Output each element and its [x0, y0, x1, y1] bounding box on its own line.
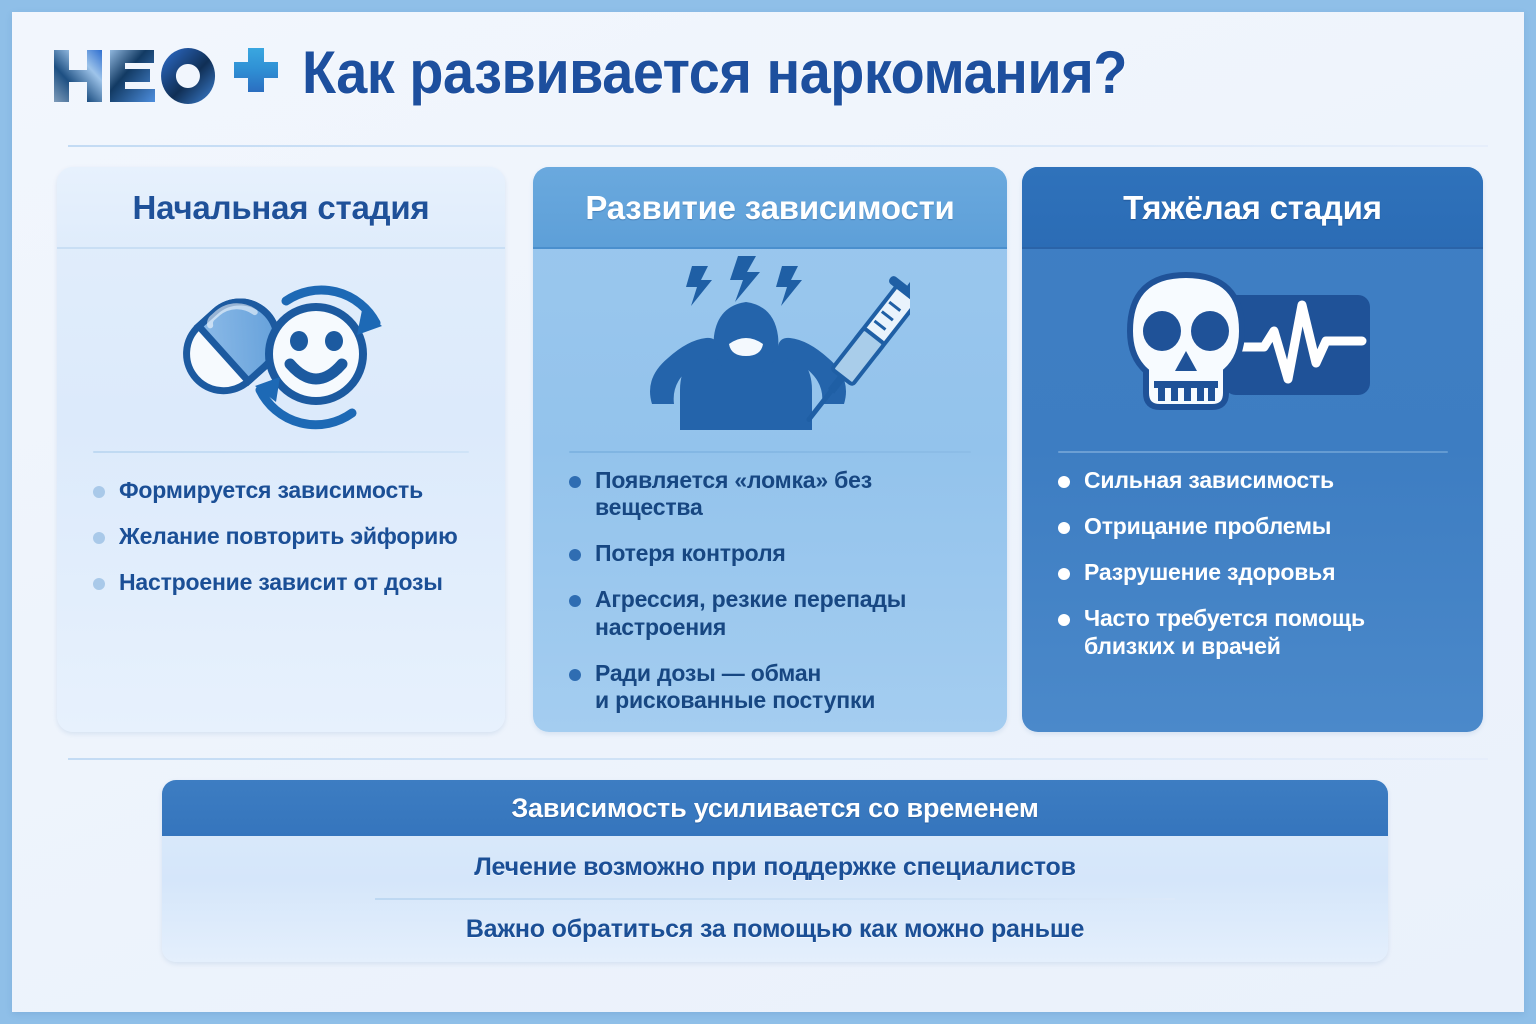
- footer-divider: [68, 758, 1488, 760]
- card-title: Развитие зависимости: [585, 189, 954, 227]
- card-bullet-list-initial: Формируется зависимость Желание повторит…: [57, 477, 505, 615]
- stage-card-development[interactable]: Развитие зависимости: [533, 167, 1007, 732]
- bullet-dot-icon: [569, 549, 581, 561]
- card-title: Начальная стадия: [133, 189, 430, 227]
- bullet-dot-icon: [1058, 568, 1070, 580]
- bullet-dot-icon: [1058, 522, 1070, 534]
- card-header-development: Развитие зависимости: [533, 167, 1007, 249]
- skull-ecg-monitor-icon: [1022, 249, 1483, 449]
- bullet-text-line-1: Часто требуется помощь: [1084, 605, 1365, 631]
- card-bullets-divider: [1058, 451, 1448, 453]
- pill-smiley-cycle-icon: [57, 249, 505, 449]
- card-bullets-divider: [569, 451, 971, 453]
- footer-text: Лечение возможно при поддержке специалис…: [474, 853, 1076, 882]
- stage-card-initial[interactable]: Начальная стадия: [57, 167, 505, 732]
- card-header-initial: Начальная стадия: [57, 167, 505, 249]
- bullet-dot-icon: [569, 595, 581, 607]
- header-divider: [68, 145, 1488, 147]
- bullet-item: Часто требуется помощь близких и врачей: [1058, 605, 1453, 659]
- footer-banner: Зависимость усиливается со временем: [162, 780, 1388, 836]
- card-title: Тяжёлая стадия: [1123, 189, 1382, 227]
- bullet-text-line-1: Ради дозы — обман: [595, 660, 821, 686]
- bullet-item: Агрессия, резкие перепады настроения: [569, 586, 977, 640]
- footer-statement-2: Важно обратиться за помощью как можно ра…: [162, 898, 1388, 960]
- bullet-dot-icon: [1058, 614, 1070, 626]
- stages-card-row: Начальная стадия: [12, 167, 1524, 732]
- bullet-item: Ради дозы — обман и рискованные поступки: [569, 660, 977, 714]
- bullet-text: Появляется «ломка» без вещества: [595, 467, 977, 521]
- bullet-item: Формируется зависимость: [93, 477, 475, 504]
- bullet-dot-icon: [93, 486, 105, 498]
- bullet-text: Формируется зависимость: [119, 477, 423, 504]
- bullet-item: Отрицание проблемы: [1058, 513, 1453, 540]
- footer-text: Важно обратиться за помощью как можно ра…: [466, 915, 1084, 944]
- neo-plus-logo: [48, 40, 288, 112]
- bullet-text-multiline: Часто требуется помощь близких и врачей: [1084, 605, 1365, 659]
- footer-banner-text: Зависимость усиливается со временем: [511, 793, 1038, 824]
- bullet-text: Настроение зависит от дозы: [119, 569, 443, 596]
- bullet-item: Желание повторить эйфорию: [93, 523, 475, 550]
- page-title: Как развивается наркомания?: [302, 38, 1127, 107]
- bullet-text: Отрицание проблемы: [1084, 513, 1331, 540]
- poster-header: Как развивается наркомания?: [12, 12, 1524, 134]
- card-header-severe: Тяжёлая стадия: [1022, 167, 1483, 249]
- card-bullets-divider: [93, 451, 469, 453]
- bullet-item: Сильная зависимость: [1058, 467, 1453, 494]
- headache-person-syringe-icon: [533, 249, 1007, 449]
- stage-card-severe[interactable]: Тяжёлая стадия: [1022, 167, 1483, 732]
- bullet-text: Агрессия, резкие перепады настроения: [595, 586, 977, 640]
- bullet-dot-icon: [1058, 476, 1070, 488]
- bullet-text-line-2: и рискованные поступки: [595, 687, 875, 713]
- bullet-item: Разрушение здоровья: [1058, 559, 1453, 586]
- bullet-dot-icon: [569, 669, 581, 681]
- bullet-item: Появляется «ломка» без вещества: [569, 467, 977, 521]
- bullet-item: Потеря контроля: [569, 540, 977, 567]
- bullet-dot-icon: [93, 532, 105, 544]
- bullet-text: Сильная зависимость: [1084, 467, 1334, 494]
- bullet-text-multiline: Ради дозы — обман и рискованные поступки: [595, 660, 875, 714]
- bullet-text: Желание повторить эйфорию: [119, 523, 458, 550]
- card-bullet-list-severe: Сильная зависимость Отрицание проблемы Р…: [1022, 467, 1483, 679]
- bullet-text: Разрушение здоровья: [1084, 559, 1335, 586]
- footer-statement-1: Лечение возможно при поддержке специалис…: [162, 836, 1388, 898]
- poster-panel: Как развивается наркомания? Начальная ст…: [12, 12, 1524, 1012]
- bullet-dot-icon: [569, 476, 581, 488]
- bullet-text-line-2: близких и врачей: [1084, 633, 1281, 659]
- card-bullet-list-development: Появляется «ломка» без вещества Потеря к…: [533, 467, 1007, 732]
- bullet-text: Потеря контроля: [595, 540, 786, 567]
- summary-footer: Зависимость усиливается со временем Лече…: [162, 780, 1388, 962]
- bullet-item: Настроение зависит от дозы: [93, 569, 475, 596]
- infographic-poster: Как развивается наркомания? Начальная ст…: [0, 0, 1536, 1024]
- bullet-dot-icon: [93, 578, 105, 590]
